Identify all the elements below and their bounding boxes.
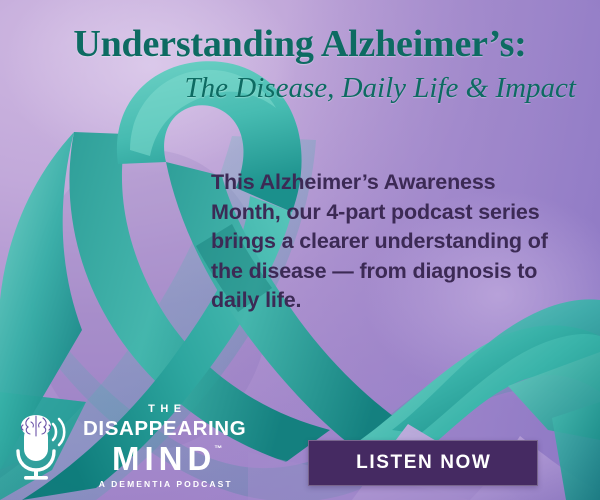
- trademark-symbol: ™: [214, 445, 222, 453]
- logo-tagline: A DEMENTIA PODCAST: [83, 480, 246, 489]
- body-copy: This Alzheimer’s Awareness Month, our 4-…: [211, 168, 563, 316]
- subtitle: The Disease, Daily Life & Impact: [0, 70, 600, 106]
- logo-the: THE: [83, 404, 246, 415]
- listen-now-button[interactable]: LISTEN NOW: [308, 440, 538, 486]
- brain-microphone-icon: [12, 409, 74, 481]
- logo-disappearing: DISAPPEARING: [83, 419, 246, 440]
- logo-wordmark: THE DISAPPEARING MIND ™ A DEMENTIA PODCA…: [83, 402, 246, 488]
- page-title: Understanding Alzheimer’s:: [0, 22, 600, 66]
- logo-mind: MIND: [107, 442, 216, 476]
- podcast-logo[interactable]: THE DISAPPEARING MIND ™ A DEMENTIA PODCA…: [12, 402, 246, 488]
- headline-block: Understanding Alzheimer’s: The Disease, …: [0, 22, 600, 106]
- logo-mind-row: MIND ™: [83, 442, 246, 476]
- listen-now-label: LISTEN NOW: [355, 452, 492, 474]
- advertisement-banner: Understanding Alzheimer’s: The Disease, …: [0, 0, 600, 500]
